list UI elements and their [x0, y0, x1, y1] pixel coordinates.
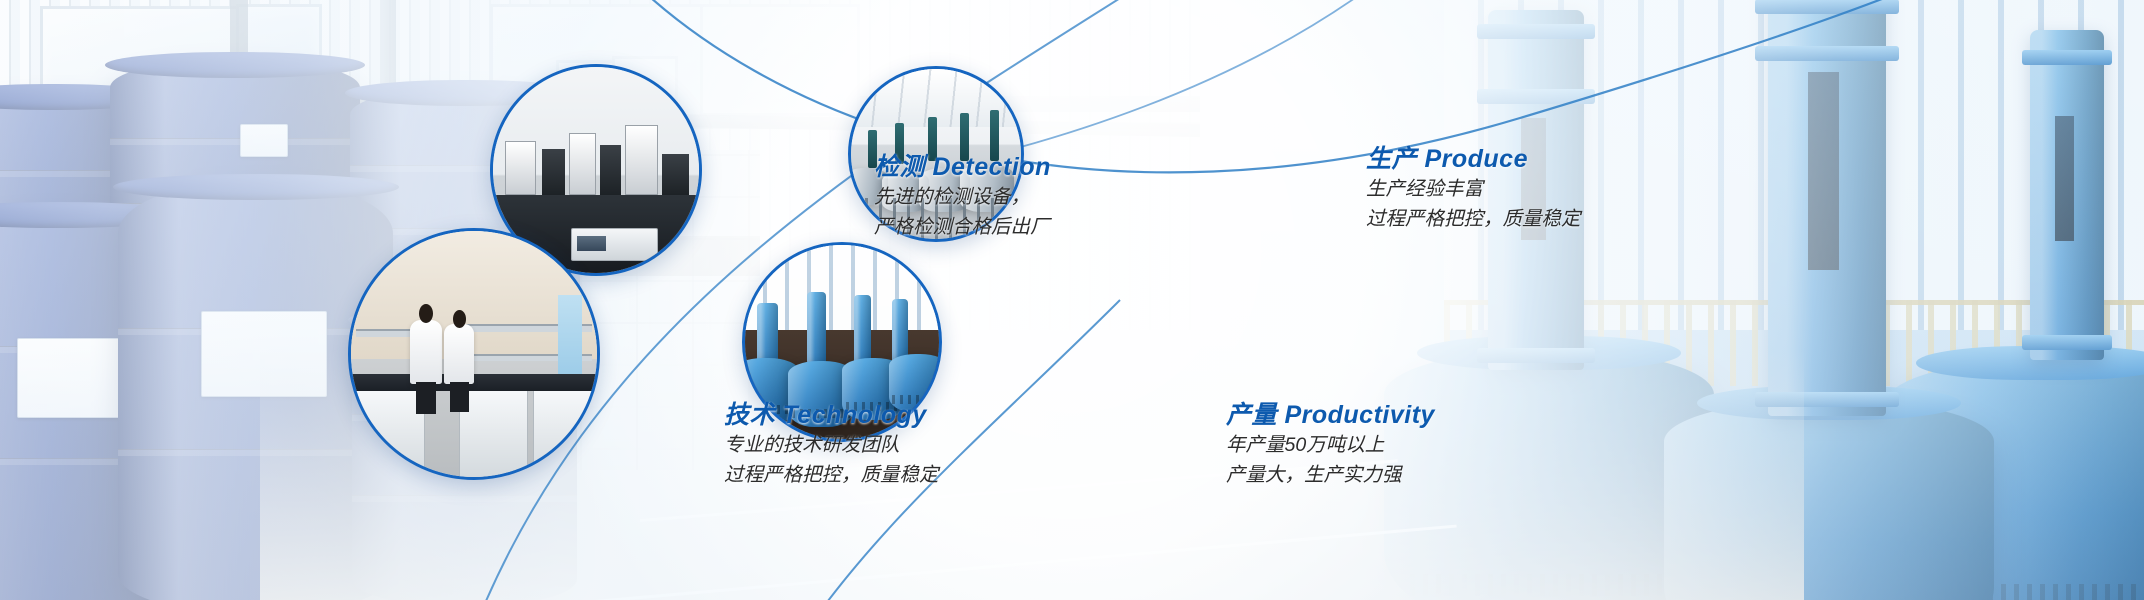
feature-circle-technology[interactable]	[348, 228, 600, 480]
feature-line: 过程严格把控，质量稳定	[724, 461, 939, 491]
feature-line: 过程严格把控，质量稳定	[1366, 205, 1581, 235]
feature-title-productivity: 产量 Productivity	[1226, 400, 1435, 431]
background-montage	[0, 0, 2144, 600]
feature-title-detection: 检测 Detection	[874, 152, 1051, 183]
feature-line: 严格检测合格后出厂	[874, 213, 1051, 243]
feature-text-detection: 检测 Detection 先进的检测设备， 严格检测合格后出厂	[874, 152, 1051, 243]
agitator-column	[2030, 30, 2104, 360]
factory-window	[700, 4, 860, 116]
feature-line: 生产经验丰富	[1366, 175, 1581, 205]
capability-banner: 检测 Detection 先进的检测设备， 严格检测合格后出厂 生产 Produ…	[0, 0, 2144, 600]
feature-title-produce: 生产 Produce	[1366, 144, 1581, 175]
feature-line: 年产量50万吨以上	[1226, 431, 1435, 461]
feature-text-productivity: 产量 Productivity 年产量50万吨以上 产量大，生产实力强	[1226, 400, 1435, 491]
rd-lab-technicians-photo	[351, 231, 597, 477]
feature-text-produce: 生产 Produce 生产经验丰富 过程严格把控，质量稳定	[1366, 144, 1581, 235]
feature-line: 专业的技术研发团队	[724, 431, 939, 461]
feature-text-technology: 技术 Technology 专业的技术研发团队 过程严格把控，质量稳定	[724, 400, 939, 491]
feature-title-technology: 技术 Technology	[724, 400, 939, 431]
feature-line: 先进的检测设备，	[874, 183, 1051, 213]
feature-line: 产量大，生产实力强	[1226, 461, 1435, 491]
